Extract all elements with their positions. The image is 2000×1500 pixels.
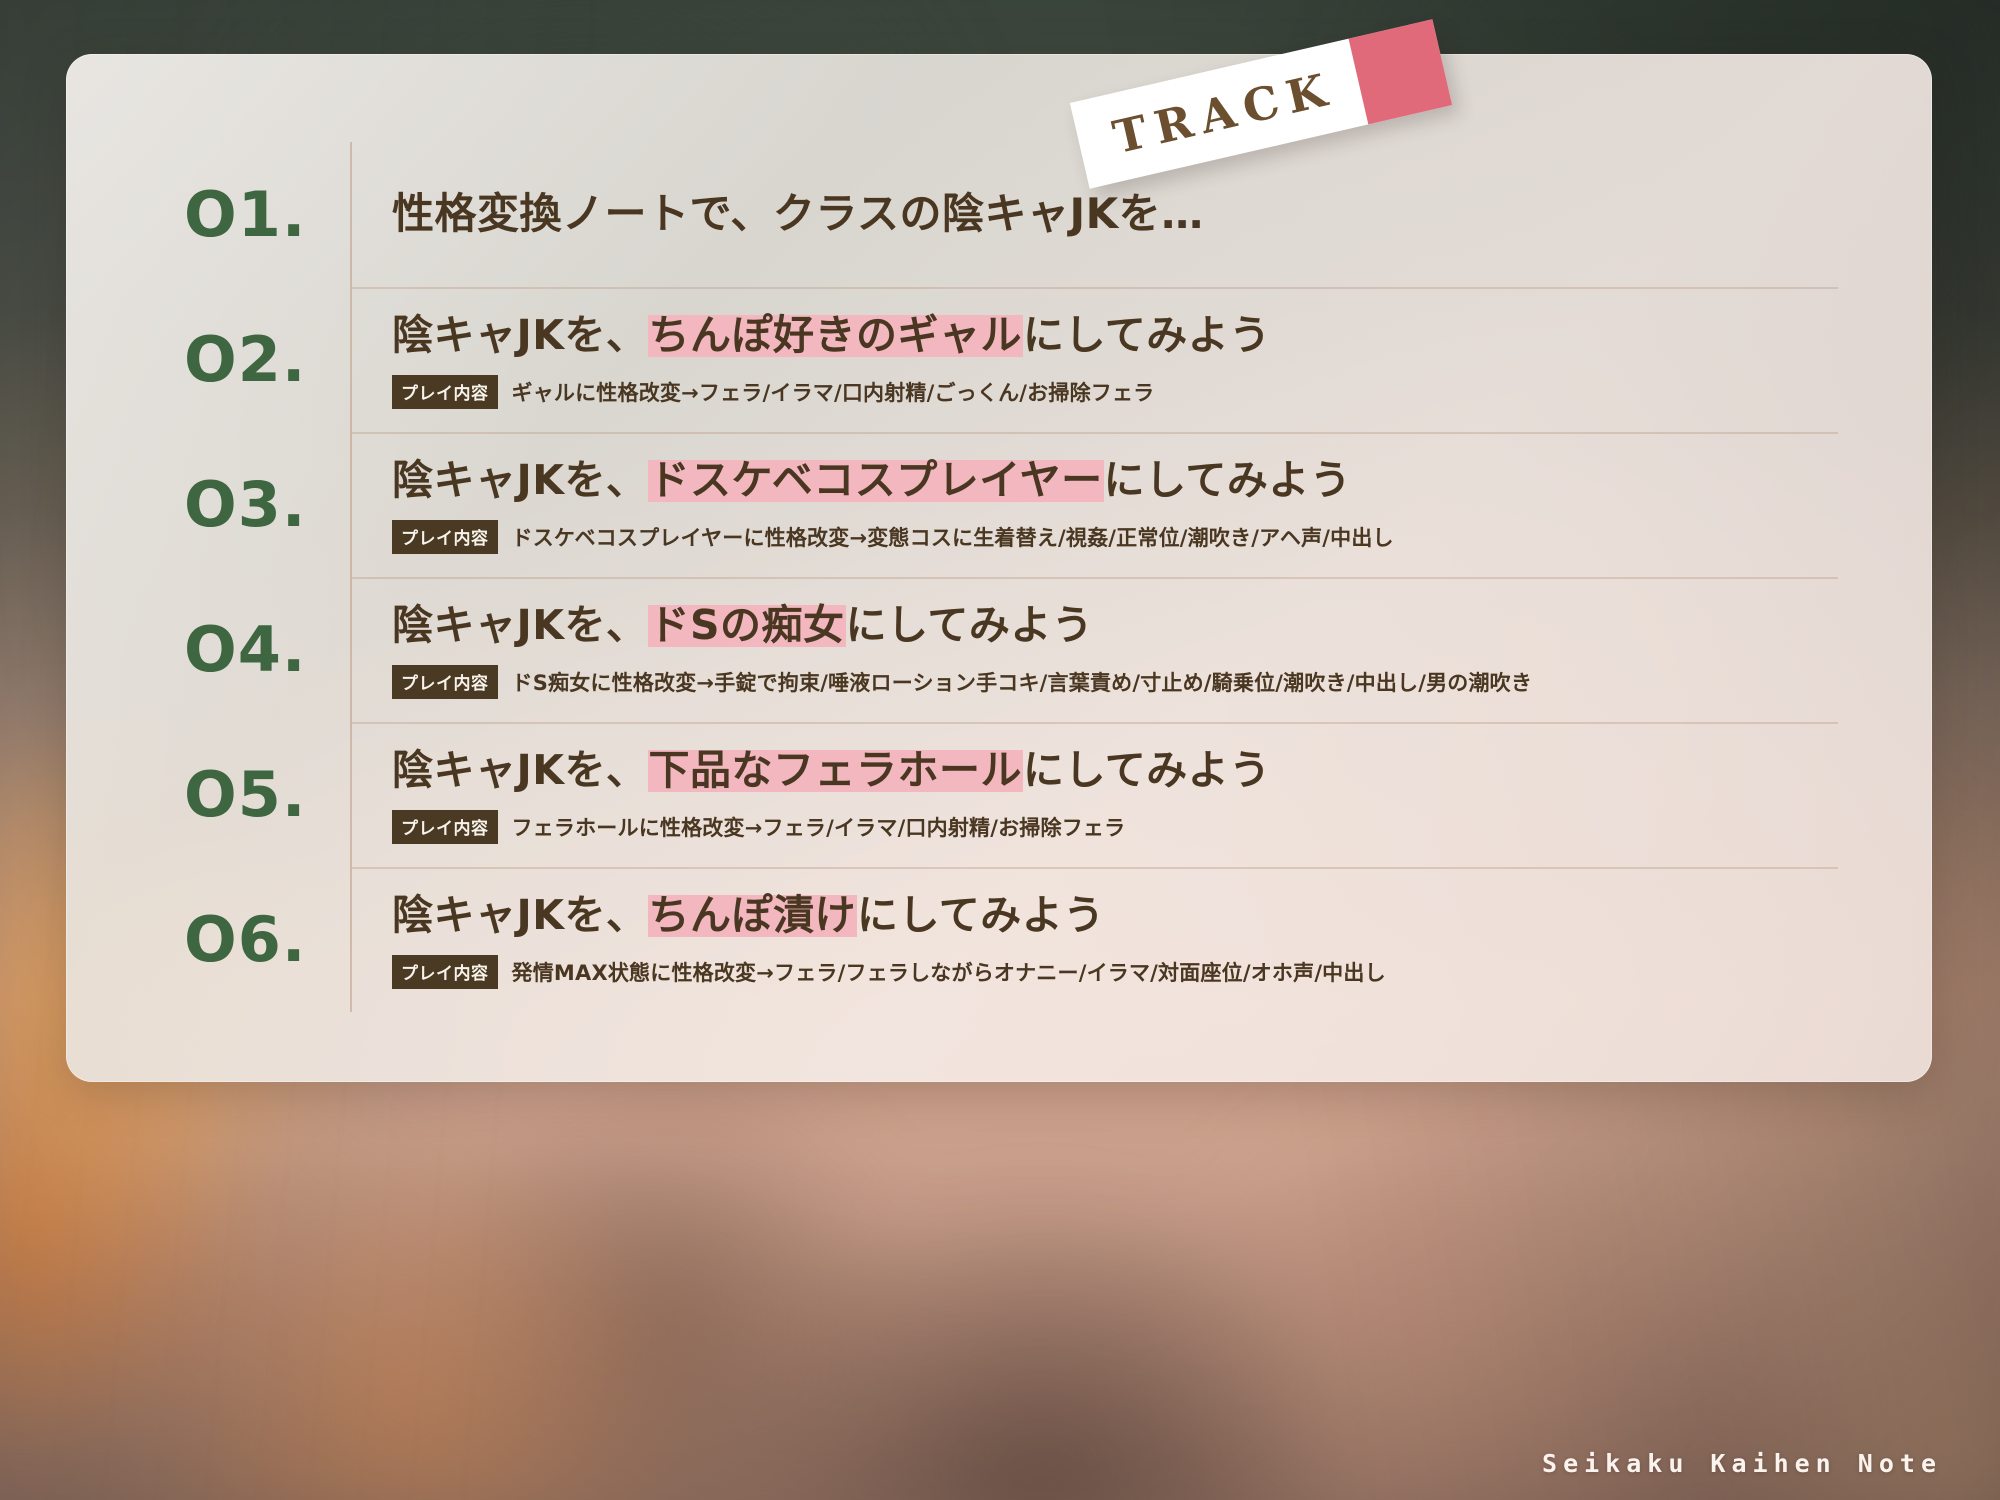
track-title-segment: にしてみよう	[1104, 456, 1352, 504]
track-number: O2.	[150, 323, 350, 396]
track-row[interactable]: O5.陰キャJKを、下品なフェラホールにしてみようプレイ内容フェラホールに性格改…	[150, 722, 1848, 867]
play-content-badge: プレイ内容	[392, 810, 498, 844]
track-row[interactable]: O6.陰キャJKを、ちんぽ漬けにしてみようプレイ内容発情MAX状態に性格改変→フ…	[150, 867, 1848, 1012]
track-title-segment: 陰キャJKを、	[392, 456, 648, 504]
play-content-badge: プレイ内容	[392, 375, 498, 409]
track-row[interactable]: O3.陰キャJKを、ドスケベコスプレイヤーにしてみようプレイ内容ドスケベコスプレ…	[150, 432, 1848, 577]
track-title-segment: 陰キャJKを、	[392, 311, 648, 359]
play-content-text: 発情MAX状態に性格改変→フェラ/フェラしながらオナニー/イラマ/対面座位/オホ…	[512, 957, 1386, 987]
track-title: 性格変換ノートで、クラスの陰キャJKを…	[392, 188, 1848, 241]
track-subline: プレイ内容ドスケベコスプレイヤーに性格改変→変態コスに生着替え/視姦/正常位/潮…	[392, 520, 1848, 554]
track-number: O5.	[150, 758, 350, 831]
track-title-segment: にしてみよう	[846, 601, 1094, 649]
track-title-segment: 陰キャJKを、	[392, 891, 648, 939]
track-title-segment: 性格変換ノートで、クラスの陰キャJKを…	[392, 189, 1204, 238]
play-content-text: ドS痴女に性格改変→手錠で拘束/唾液ローション手コキ/言葉責め/寸止め/騎乗位/…	[512, 667, 1533, 697]
track-subline: プレイ内容フェラホールに性格改変→フェラ/イラマ/口内射精/お掃除フェラ	[392, 810, 1848, 844]
track-title-segment: 陰キャJKを、	[392, 746, 648, 794]
track-body: 陰キャJKを、ドスケベコスプレイヤーにしてみようプレイ内容ドスケベコスプレイヤー…	[350, 432, 1848, 577]
track-subline: プレイ内容発情MAX状態に性格改変→フェラ/フェラしながらオナニー/イラマ/対面…	[392, 955, 1848, 989]
track-list-card: O1.性格変換ノートで、クラスの陰キャJKを…O2.陰キャJKを、ちんぽ好きのギ…	[66, 54, 1932, 1082]
track-title-segment: 陰キャJKを、	[392, 601, 648, 649]
play-content-badge: プレイ内容	[392, 520, 498, 554]
track-row[interactable]: O4.陰キャJKを、ドSの痴女にしてみようプレイ内容ドS痴女に性格改変→手錠で拘…	[150, 577, 1848, 722]
track-title-highlight: ドスケベコスプレイヤー	[648, 456, 1104, 504]
track-body: 陰キャJKを、下品なフェラホールにしてみようプレイ内容フェラホールに性格改変→フ…	[350, 722, 1848, 867]
track-subline: プレイ内容ドS痴女に性格改変→手錠で拘束/唾液ローション手コキ/言葉責め/寸止め…	[392, 665, 1848, 699]
play-content-badge: プレイ内容	[392, 665, 498, 699]
track-title: 陰キャJKを、ドSの痴女にしてみよう	[392, 600, 1848, 651]
track-title-highlight: ちんぽ好きのギャル	[648, 311, 1024, 359]
track-title-segment: にしてみよう	[1023, 311, 1271, 359]
track-body: 陰キャJKを、ドSの痴女にしてみようプレイ内容ドS痴女に性格改変→手錠で拘束/唾…	[350, 577, 1848, 722]
track-title: 陰キャJKを、ドスケベコスプレイヤーにしてみよう	[392, 455, 1848, 506]
track-title-highlight: 下品なフェラホール	[648, 746, 1024, 794]
track-body: 陰キャJKを、ちんぽ漬けにしてみようプレイ内容発情MAX状態に性格改変→フェラ/…	[350, 867, 1848, 1012]
play-content-text: ギャルに性格改変→フェラ/イラマ/口内射精/ごっくん/お掃除フェラ	[512, 377, 1155, 407]
play-content-badge: プレイ内容	[392, 955, 498, 989]
track-title: 陰キャJKを、ちんぽ漬けにしてみよう	[392, 890, 1848, 941]
play-content-text: フェラホールに性格改変→フェラ/イラマ/口内射精/お掃除フェラ	[512, 812, 1126, 842]
track-subline: プレイ内容ギャルに性格改変→フェラ/イラマ/口内射精/ごっくん/お掃除フェラ	[392, 375, 1848, 409]
track-title-segment: にしてみよう	[1023, 746, 1271, 794]
track-number: O3.	[150, 468, 350, 541]
track-number: O4.	[150, 613, 350, 686]
track-row[interactable]: O2.陰キャJKを、ちんぽ好きのギャルにしてみようプレイ内容ギャルに性格改変→フ…	[150, 287, 1848, 432]
track-list: O1.性格変換ノートで、クラスの陰キャJKを…O2.陰キャJKを、ちんぽ好きのギ…	[66, 54, 1932, 1082]
track-title-highlight: ちんぽ漬け	[648, 891, 858, 939]
track-number: O1.	[150, 178, 350, 251]
track-title: 陰キャJKを、下品なフェラホールにしてみよう	[392, 745, 1848, 796]
track-body: 陰キャJKを、ちんぽ好きのギャルにしてみようプレイ内容ギャルに性格改変→フェラ/…	[350, 287, 1848, 432]
track-title-highlight: ドSの痴女	[648, 601, 846, 649]
play-content-text: ドスケベコスプレイヤーに性格改変→変態コスに生着替え/視姦/正常位/潮吹き/アヘ…	[512, 522, 1394, 552]
track-title-segment: にしてみよう	[857, 891, 1105, 939]
track-title: 陰キャJKを、ちんぽ好きのギャルにしてみよう	[392, 310, 1848, 361]
track-row[interactable]: O1.性格変換ノートで、クラスの陰キャJKを…	[150, 142, 1848, 287]
track-number: O6.	[150, 903, 350, 976]
footer-watermark: Seikaku Kaihen Note	[1542, 1449, 1942, 1478]
